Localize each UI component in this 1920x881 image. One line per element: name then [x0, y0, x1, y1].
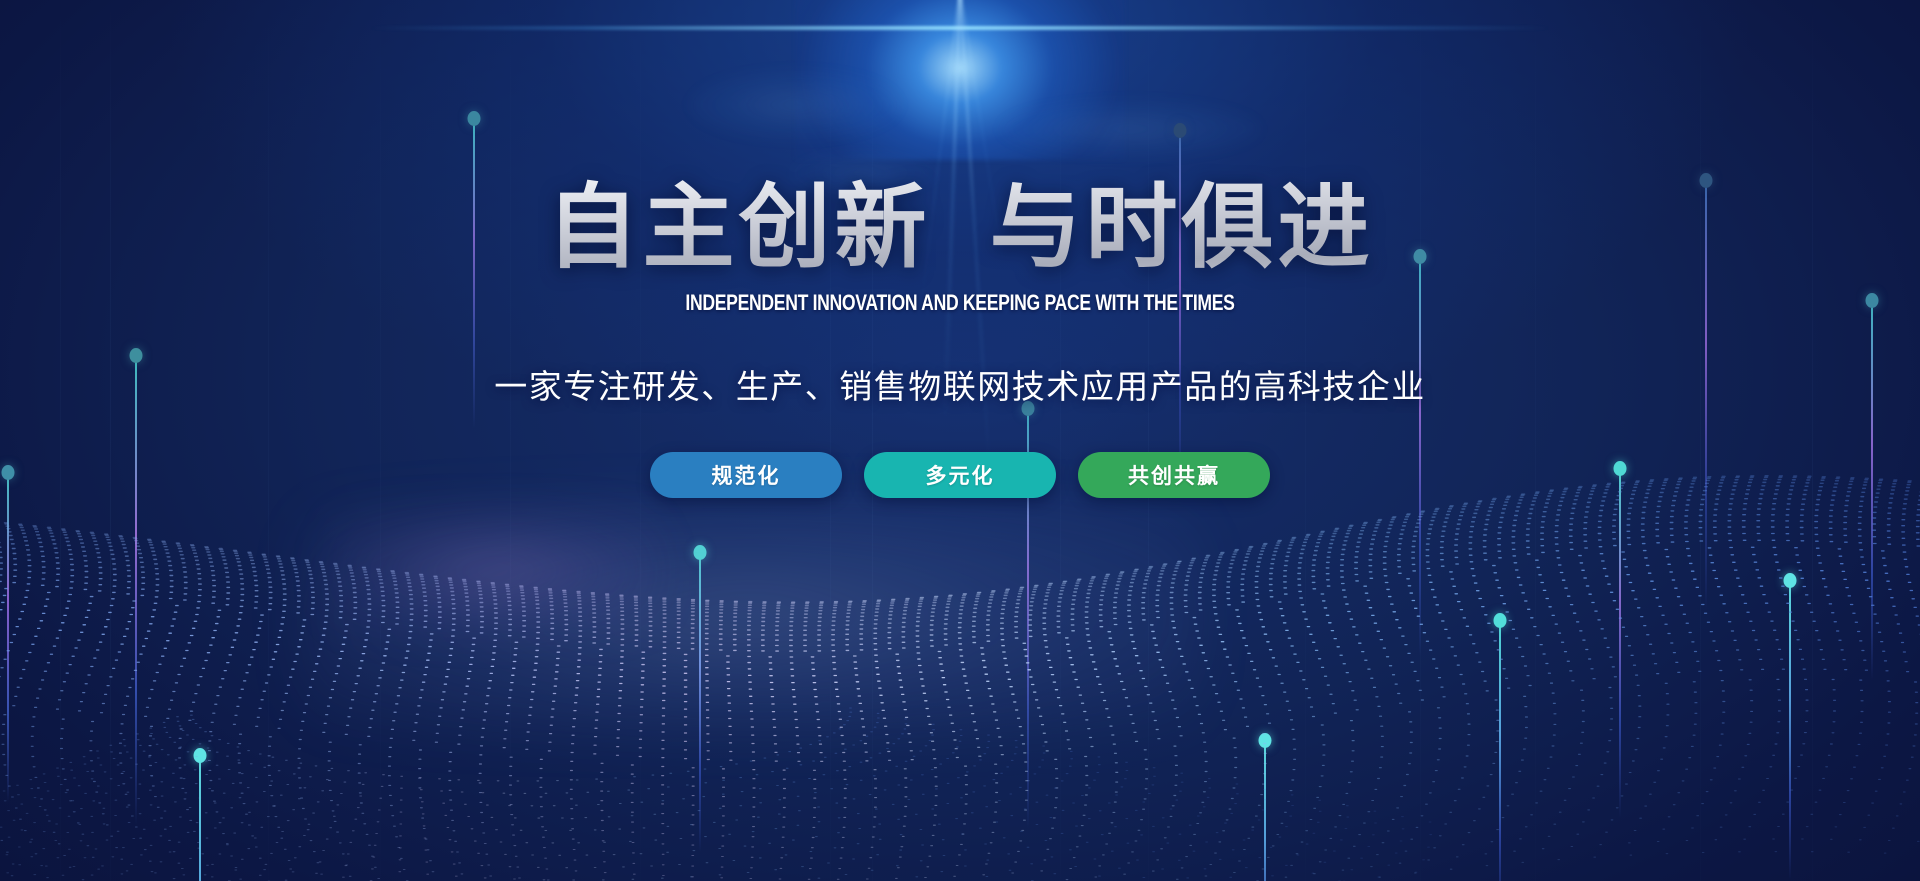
- wave-particle-row: [0, 722, 1920, 808]
- wave-particle-row: [0, 827, 1920, 881]
- wave-particle-row: [0, 480, 1920, 604]
- wave-highlight-glow: [300, 501, 1200, 731]
- wave-particle-row: [0, 603, 1920, 704]
- pin-dot-icon: [694, 545, 707, 560]
- pin-stem: [1619, 468, 1621, 818]
- wave-particle-row: [0, 586, 1920, 689]
- tag-pill-3[interactable]: 共创共赢: [1078, 452, 1270, 498]
- wave-particle-row: [0, 527, 1920, 640]
- wave-swirl-arc: [83, 751, 1072, 880]
- pin-marker: [1493, 620, 1507, 881]
- wave-swirl-arc: [57, 762, 1128, 881]
- wave-particle-row: [0, 767, 1920, 848]
- wave-swirl-arc: [97, 746, 1045, 868]
- wave-swirl-arc: [17, 779, 1211, 881]
- pin-marker: [693, 552, 707, 852]
- wave-particle-row: [0, 679, 1920, 770]
- wave-swirl-arc: [137, 730, 962, 831]
- wave-particle-row: [0, 669, 1920, 761]
- wave-swirl-arc: [0, 817, 1404, 881]
- wave-swirl-arc: [70, 757, 1100, 881]
- wave-swirl-arc: [0, 800, 1321, 881]
- tag-pill-1[interactable]: 规范化: [650, 452, 842, 498]
- pin-marker: [1613, 468, 1627, 818]
- tag-pill-2[interactable]: 多元化: [864, 452, 1056, 498]
- wave-particle-row: [0, 509, 1920, 626]
- subtitle-english: INDEPENDENT INNOVATION AND KEEPING PACE …: [192, 290, 1728, 316]
- page-title: 自主创新 与时俱进: [0, 0, 1920, 274]
- pin-stem: [7, 472, 9, 802]
- wave-particle-row: [0, 534, 1920, 646]
- wave-particle-row: [0, 570, 1920, 676]
- wave-particle-row: [0, 744, 1920, 828]
- wave-magenta-glow: [330, 511, 660, 631]
- wave-swirl-arc: [30, 773, 1183, 881]
- pin-dot-icon: [194, 748, 207, 763]
- wave-particle-row: [0, 640, 1920, 736]
- wave-particle-row: [0, 711, 1920, 798]
- wave-particle-row: [0, 790, 1920, 869]
- wave-particle-row: [0, 802, 1920, 879]
- pin-marker: [1, 472, 15, 802]
- pin-dot-icon: [1494, 613, 1507, 628]
- wave-particle-row: [0, 494, 1920, 614]
- subtitle-chinese: 一家专注研发、生产、销售物联网技术应用产品的高科技企业: [0, 360, 1920, 408]
- pin-stem: [1499, 620, 1501, 881]
- wave-swirl-arc: [3, 784, 1238, 881]
- pin-stem: [699, 552, 701, 852]
- wave-particle-row: [0, 612, 1920, 712]
- pin-marker: [1258, 740, 1272, 881]
- wave-particle-row: [0, 482, 1920, 605]
- wave-particle-row: [0, 852, 1920, 881]
- wave-swirl-arc: [150, 724, 934, 818]
- wave-particle-row: [0, 578, 1920, 683]
- pin-marker: [193, 755, 207, 881]
- wave-swirl-arc: [0, 822, 1432, 881]
- wave-swirl-arc: [190, 708, 852, 781]
- wave-particle-row: [0, 540, 1920, 651]
- wave-swirl-arc: [43, 768, 1155, 881]
- wave-particle-row: [0, 521, 1920, 636]
- hero-banner: 自主创新 与时俱进 INDEPENDENT INNOVATION AND KEE…: [0, 0, 1920, 881]
- wave-particle-row: [0, 649, 1920, 744]
- wave-particle-row: [0, 547, 1920, 657]
- wave-particle-row: [0, 555, 1920, 663]
- wave-swirl-arc: [123, 735, 989, 843]
- wave-swirl-arc: [177, 713, 879, 793]
- wave-particle-row: [0, 621, 1920, 719]
- wave-particle-row: [0, 814, 1920, 881]
- wave-particle-row: [0, 778, 1920, 858]
- wave-particle-row: [0, 659, 1920, 752]
- wave-swirl-arc: [0, 795, 1293, 881]
- wave-particle-row: [0, 595, 1920, 697]
- wave-particle-row: [0, 630, 1920, 727]
- wave-particle-row: [0, 839, 1920, 881]
- banner-content: 自主创新 与时俱进 INDEPENDENT INNOVATION AND KEE…: [0, 0, 1920, 498]
- wave-swirl-arc: [0, 806, 1349, 881]
- tag-pill-group: 规范化多元化共创共赢: [0, 452, 1920, 498]
- wave-swirl-arc: [0, 811, 1376, 881]
- wave-particle-row: [0, 515, 1920, 631]
- wave-particle-row: [0, 733, 1920, 818]
- wave-swirl-arc: [110, 741, 1017, 856]
- pin-stem: [1789, 580, 1791, 880]
- wave-swirl-arc: [0, 789, 1266, 881]
- wave-particle-row: [0, 490, 1920, 611]
- wave-particle-row: [0, 486, 1920, 608]
- pin-stem: [1264, 740, 1266, 881]
- pin-dot-icon: [1259, 733, 1272, 748]
- wave-particle-row: [0, 499, 1920, 618]
- wave-swirl-arc: [163, 719, 907, 806]
- wave-particle-row: [0, 562, 1920, 669]
- wave-particle-row: [0, 690, 1920, 780]
- wave-particle-row: [0, 700, 1920, 789]
- pin-dot-icon: [1784, 573, 1797, 588]
- wave-particle-row: [0, 755, 1920, 837]
- pin-stem: [199, 755, 201, 881]
- wave-particle-row: [0, 504, 1920, 622]
- pin-marker: [1783, 580, 1797, 880]
